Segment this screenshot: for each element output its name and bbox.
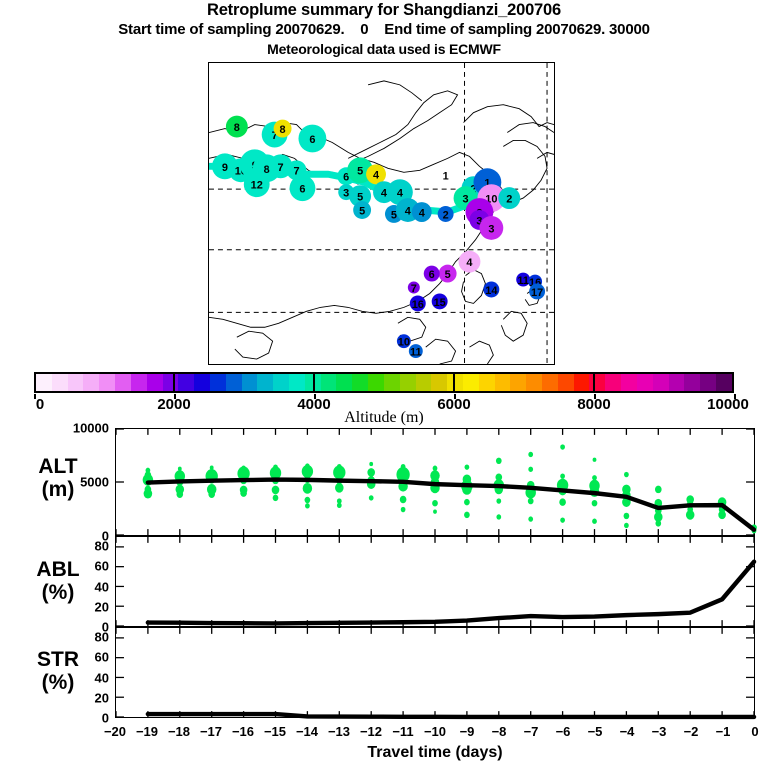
colorbar-swatch (463, 374, 479, 391)
scatter-point (369, 495, 374, 500)
colorbar-swatch (257, 374, 273, 391)
scatter-point (528, 452, 533, 457)
trend-line (148, 480, 754, 530)
colorbar-swatch (637, 374, 653, 391)
scatter-point (337, 503, 342, 508)
retroplume-map: 8786910981277665435445544121310233324567… (208, 62, 555, 365)
scatter-point (496, 514, 501, 519)
xtick-label: −10 (424, 724, 446, 739)
colorbar-swatch (68, 374, 84, 391)
map-marker-day-label: 15 (434, 297, 446, 309)
scatter-point (655, 486, 662, 494)
colorbar-swatch (147, 374, 163, 391)
xtick-label: −12 (360, 724, 382, 739)
colorbar-separator (453, 372, 455, 393)
scatter-point (560, 444, 565, 449)
xtick-label: −18 (168, 724, 190, 739)
colorbar-swatch (163, 374, 179, 391)
colorbar-swatch (273, 374, 289, 391)
scatter-point (593, 458, 597, 462)
ytick-label: 20 (49, 599, 109, 614)
ytick-label: 80 (49, 539, 109, 554)
xtick-label: −3 (652, 724, 667, 739)
scatter-point (144, 489, 153, 499)
xtick-label: −14 (296, 724, 318, 739)
colorbar-swatch (99, 374, 115, 391)
colorbar-swatch (321, 374, 337, 391)
map-marker-day-label: 17 (531, 287, 543, 299)
retroplume-summary-figure: Retroplume summary for Shangdianzi_20070… (0, 0, 768, 768)
map-marker-day-label: 3 (462, 194, 468, 206)
scatter-point (560, 517, 565, 522)
scatter-point (624, 513, 630, 519)
scatter-point (464, 512, 470, 518)
map-marker-day-label: 9 (222, 162, 228, 174)
colorbar-separator (173, 372, 175, 393)
colorbar-swatch (574, 374, 590, 391)
scatter-point (528, 516, 533, 521)
ytick-label: 0 (49, 711, 109, 726)
xtick-label: −7 (524, 724, 539, 739)
scatter-point (369, 462, 373, 466)
scatter-point (592, 475, 597, 480)
page-title: Retroplume summary for Shangdianzi_20070… (0, 0, 768, 20)
map-marker-day-label: 8 (234, 122, 240, 134)
xtick-label: −5 (588, 724, 603, 739)
map-gridlines (209, 63, 554, 364)
colorbar-swatch (52, 374, 68, 391)
colorbar-swatch (542, 374, 558, 391)
scatter-point (496, 458, 502, 464)
map-marker-day-label: 8 (280, 124, 286, 136)
scatter-point (560, 473, 565, 478)
colorbar-swatch (684, 374, 700, 391)
colorbar-swatch (621, 374, 637, 391)
xtick-label: −8 (492, 724, 507, 739)
map-marker-day-label: 4 (373, 170, 380, 182)
scatter-point (433, 510, 437, 514)
colorbar-separator (313, 372, 315, 393)
scatter-point (400, 496, 407, 504)
scatter-point (240, 489, 247, 497)
scatter-point (305, 497, 311, 503)
colorbar-swatch (589, 374, 605, 391)
title-block: Retroplume summary for Shangdianzi_20070… (0, 0, 768, 58)
colorbar-swatch (558, 374, 574, 391)
map-marker-day-label: 4 (419, 207, 426, 219)
scatter-point (465, 464, 470, 469)
colorbar-swatch (336, 374, 352, 391)
xtick-label: −6 (556, 724, 571, 739)
ytick-label: 20 (49, 690, 109, 705)
scatter-point (718, 511, 726, 520)
trend-line (148, 714, 754, 717)
map-marker-day-label: 12 (251, 180, 263, 192)
scatter-point (432, 500, 438, 506)
xtick-label: −19 (136, 724, 158, 739)
abl-panel (115, 536, 755, 627)
map-marker-day-label: 5 (445, 269, 451, 281)
str-panel (115, 627, 755, 718)
abl-plot-canvas (116, 537, 754, 626)
scatter-point (178, 467, 182, 471)
map-marker-day-label: 4 (397, 188, 404, 200)
colorbar-swatch (431, 374, 447, 391)
xtick-label: −15 (264, 724, 286, 739)
met-data-text: Meteorological data used is ECMWF (0, 40, 768, 58)
map-marker-day-label: 2 (506, 194, 512, 206)
alt-panel (115, 428, 755, 536)
map-marker-day-label: 3 (488, 223, 494, 235)
ytick-label: 60 (49, 559, 109, 574)
scatter-point (305, 503, 310, 508)
map-marker-day-label: 6 (429, 269, 435, 281)
colorbar-swatch (226, 374, 242, 391)
colorbar-swatch (352, 374, 368, 391)
scatter-point (273, 495, 279, 501)
map-marker-day-label: 14 (485, 285, 498, 297)
ytick-label: 80 (49, 630, 109, 645)
colorbar-swatch (669, 374, 685, 391)
scatter-point (686, 510, 695, 520)
xtick-label: −9 (460, 724, 475, 739)
colorbar-swatch (83, 374, 99, 391)
colorbar-swatch (36, 374, 52, 391)
colorbar-swatch (447, 374, 463, 391)
scatter-point (528, 467, 533, 472)
map-marker-day-label: 7 (278, 162, 284, 174)
trend-line (148, 562, 754, 624)
colorbar-swatch (510, 374, 526, 391)
ytick-label: 40 (49, 579, 109, 594)
scatter-point (208, 490, 215, 498)
map-marker-day-label: 1 (443, 171, 449, 183)
colorbar-swatch (400, 374, 416, 391)
scatter-point (496, 498, 501, 503)
xtick-label: −13 (328, 724, 350, 739)
map-marker-day-label: 10 (398, 337, 410, 349)
scatter-point (272, 486, 280, 495)
scatter-point (367, 468, 375, 477)
colorbar-separator (593, 372, 595, 393)
map-marker-day-label: 11 (410, 347, 422, 359)
ytick-label: 10000 (49, 421, 109, 436)
colorbar-swatch (131, 374, 147, 391)
colorbar-swatch (716, 374, 732, 391)
scatter-point (528, 498, 534, 504)
map-marker-day-label: 6 (309, 134, 315, 146)
colorbar-swatch (242, 374, 258, 391)
altitude-colorbar (34, 372, 734, 393)
colorbar-swatch (700, 374, 716, 391)
xtick-label: −1 (716, 724, 731, 739)
xtick-label: −4 (620, 724, 635, 739)
map-marker-day-label: 4 (381, 188, 388, 200)
colorbar-swatch (115, 374, 131, 391)
map-marker-day-label: 5 (357, 166, 363, 178)
map-coastlines (209, 81, 554, 364)
scatter-point (559, 498, 566, 506)
scatter-point (592, 519, 597, 524)
map-marker-day-label: 4 (405, 205, 412, 217)
map-marker-day-label: 2 (443, 209, 449, 221)
ytick-label: 5000 (49, 475, 109, 490)
xtick-label: −2 (684, 724, 699, 739)
map-marker-day-label: 4 (466, 257, 473, 269)
colorbar-swatch (210, 374, 226, 391)
scatter-point (335, 483, 344, 493)
ytick-label: 60 (49, 650, 109, 665)
scatter-point (624, 523, 629, 528)
colorbar-swatch (194, 374, 210, 391)
scatter-point (401, 507, 406, 512)
colorbar-title: Altitude (m) (0, 409, 768, 427)
colorbar-swatch (495, 374, 511, 391)
scatter-point (303, 483, 312, 494)
colorbar-swatch (416, 374, 432, 391)
colorbar-swatch (479, 374, 495, 391)
alt-plot-canvas (116, 429, 754, 535)
map-marker-day-label: 3 (343, 188, 349, 200)
map-marker-day-label: 7 (411, 283, 417, 295)
map-marker-day-label: 5 (359, 205, 365, 217)
colorbar-swatch (178, 374, 194, 391)
scatter-point (464, 499, 470, 505)
map-canvas: 8786910981277665435445544121310233324567… (209, 63, 554, 364)
xtick-label: −11 (392, 724, 413, 739)
colorbar-swatch (384, 374, 400, 391)
colorbar-swatch (605, 374, 621, 391)
scatter-point (176, 490, 183, 498)
xtick-label: 0 (751, 724, 758, 739)
scatter-point (592, 500, 598, 506)
ytick-label: 40 (49, 670, 109, 685)
xtick-label: −20 (104, 724, 126, 739)
scatter-point (433, 466, 438, 471)
xtick-label: −17 (200, 724, 222, 739)
str-plot-canvas (116, 628, 754, 717)
colorbar-swatch (653, 374, 669, 391)
colorbar-swatch (368, 374, 384, 391)
xtick-label: −16 (232, 724, 254, 739)
map-markers: 8786910981277665435445544121310233324567… (212, 116, 554, 359)
scatter-point (655, 520, 661, 526)
map-marker-day-label: 11 (517, 275, 529, 287)
xaxis-title: Travel time (days) (115, 744, 755, 762)
map-marker-day-label: 6 (299, 184, 305, 196)
map-marker-day-label: 16 (412, 299, 424, 311)
colorbar-swatch (289, 374, 305, 391)
colorbar-swatch (526, 374, 542, 391)
sampling-time-text: Start time of sampling 20070629. 0 End t… (0, 20, 768, 40)
scatter-point (624, 472, 629, 477)
